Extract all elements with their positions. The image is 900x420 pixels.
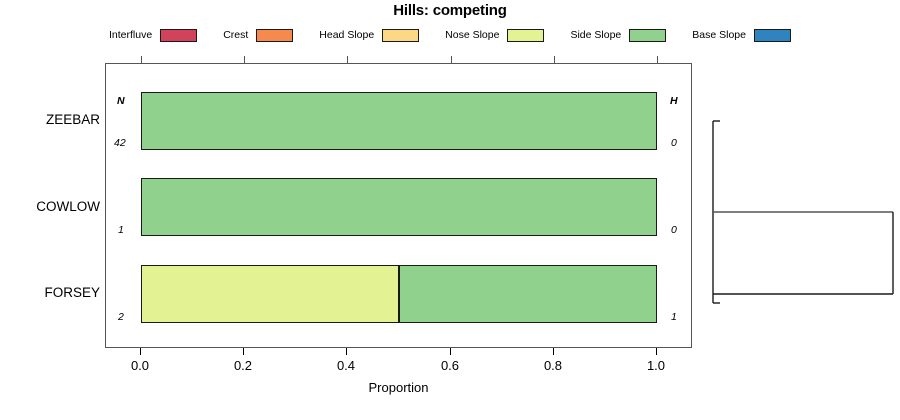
legend-swatch-interfluve [160, 29, 197, 42]
legend-label: Base Slope [692, 29, 746, 41]
category-label-zeebar: ZEEBAR [0, 112, 100, 128]
bar-row-forsey[interactable] [141, 265, 657, 323]
legend-swatch-crest [256, 29, 293, 42]
x-tick-mark-0 [140, 348, 141, 355]
category-label-cowlow: COWLOW [0, 199, 100, 215]
top-tick-4 [554, 56, 555, 63]
dendrogram [692, 63, 900, 348]
x-tick-mark-5 [656, 348, 657, 355]
h-value-forsey: 1 [671, 311, 677, 323]
legend-item-interfluve[interactable]: Interfluve [109, 29, 197, 42]
bar-row-cowlow[interactable] [141, 178, 657, 236]
legend-label: Side Slope [570, 29, 621, 41]
column-header-h: H [670, 95, 678, 107]
legend-item-side-slope[interactable]: Side Slope [570, 29, 666, 42]
top-tick-1 [244, 56, 245, 63]
top-tick-2 [347, 56, 348, 63]
legend-item-crest[interactable]: Crest [223, 29, 293, 42]
x-axis: 0.0 0.2 0.4 0.6 0.8 1.0 Proportion [105, 348, 692, 418]
bar-segment-side-slope[interactable] [399, 265, 657, 323]
x-tick-label-2: 0.4 [321, 358, 371, 373]
bar-segment-nose-slope[interactable] [141, 265, 399, 323]
category-label-forsey: FORSEY [0, 285, 100, 301]
top-tick-3 [451, 56, 452, 63]
legend-swatch-nose-slope [507, 29, 544, 42]
x-tick-mark-4 [553, 348, 554, 355]
n-value-zeebar: 42 [114, 137, 126, 149]
h-value-zeebar: 0 [671, 137, 677, 149]
x-tick-label-5: 1.0 [631, 358, 681, 373]
x-tick-label-3: 0.6 [425, 358, 475, 373]
legend-swatch-head-slope [382, 29, 419, 42]
bar-row-zeebar[interactable] [141, 92, 657, 150]
legend-label: Crest [223, 29, 248, 41]
legend-swatch-side-slope [629, 29, 666, 42]
legend-label: Interfluve [109, 29, 152, 41]
bar-segment-side-slope[interactable] [141, 178, 657, 236]
legend-label: Head Slope [319, 29, 374, 41]
legend: Interfluve Crest Head Slope Nose Slope S… [0, 26, 900, 44]
x-axis-title: Proportion [105, 380, 692, 395]
legend-swatch-base-slope [754, 29, 791, 42]
legend-label: Nose Slope [445, 29, 499, 41]
dendrogram-svg [692, 63, 900, 348]
legend-item-base-slope[interactable]: Base Slope [692, 29, 791, 42]
column-header-n: N [117, 95, 125, 107]
top-tick-0 [141, 56, 142, 63]
top-tick-5 [657, 56, 658, 63]
x-tick-label-4: 0.8 [528, 358, 578, 373]
x-tick-mark-1 [243, 348, 244, 355]
x-tick-label-1: 0.2 [218, 358, 268, 373]
n-value-forsey: 2 [118, 311, 124, 323]
page-title: Hills: competing [0, 2, 900, 20]
h-value-cowlow: 0 [671, 224, 677, 236]
x-tick-mark-3 [450, 348, 451, 355]
n-value-cowlow: 1 [118, 224, 124, 236]
legend-item-head-slope[interactable]: Head Slope [319, 29, 419, 42]
x-tick-mark-2 [346, 348, 347, 355]
legend-item-nose-slope[interactable]: Nose Slope [445, 29, 544, 42]
bar-segment-side-slope[interactable] [141, 92, 657, 150]
x-tick-label-0: 0.0 [115, 358, 165, 373]
